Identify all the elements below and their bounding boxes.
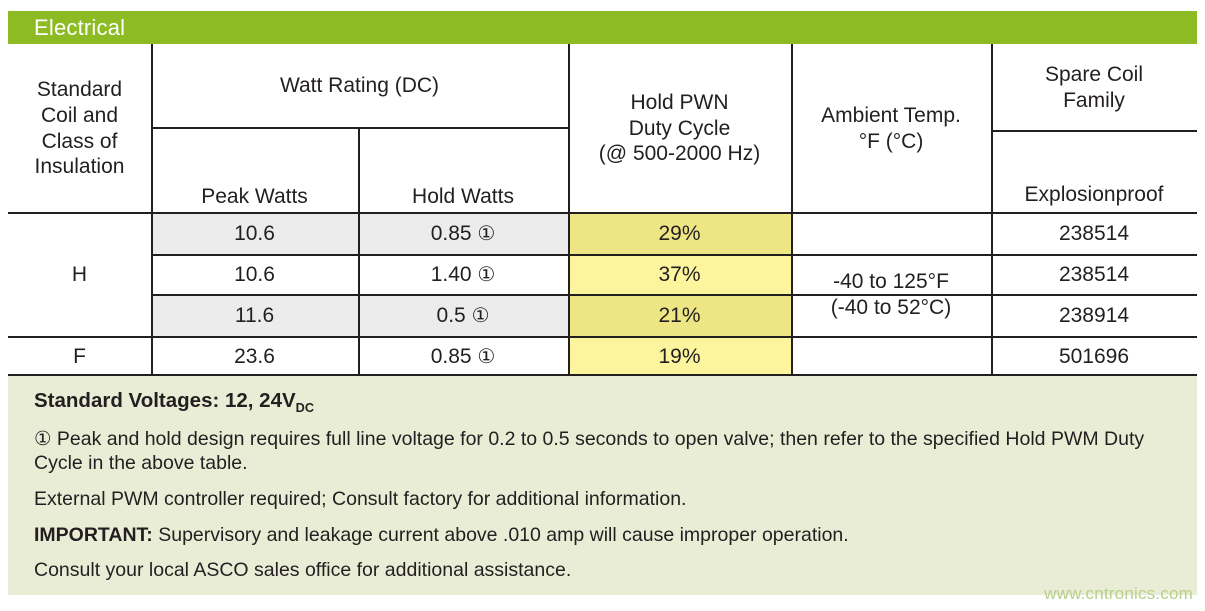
group-label-f-text: F xyxy=(8,344,151,370)
header-line: Spare Coil xyxy=(995,62,1193,88)
note-standard-voltages: Standard Voltages: 12, 24VDC xyxy=(34,388,1171,414)
header-hold-watts-label: Hold Watts xyxy=(358,184,568,210)
notes-panel: Standard Voltages: 12, 24VDC ① Peak and … xyxy=(8,376,1197,595)
header-unit-f: °F ( xyxy=(859,130,893,153)
header-line: Duty Cycle xyxy=(572,116,787,142)
table-gridline xyxy=(8,212,1197,214)
cell-hold-watts-value: 0.85 xyxy=(431,222,472,245)
note-important-text: Supervisory and leakage current above .0… xyxy=(153,524,849,546)
table-gridline xyxy=(151,44,153,376)
table-row: 10.6 xyxy=(151,213,358,255)
table-row: 23.6 xyxy=(151,337,358,376)
table-gridline xyxy=(991,44,993,376)
cell-peak-watts: 10.6 xyxy=(151,221,358,247)
header-hold-watts: Hold Watts xyxy=(358,128,568,213)
cell-hold-watts-value: 1.40 xyxy=(431,263,472,286)
cell-hold-watts: 0.85 ① xyxy=(358,221,568,247)
table-row: 1.40 ① xyxy=(358,255,568,295)
cell-hold-watts: 1.40 ① xyxy=(358,262,568,288)
note-standard-voltages-label: Standard Voltages: 12, 24V xyxy=(34,389,296,412)
footnote-marker-icon: ① xyxy=(472,305,490,327)
header-line: Coil and xyxy=(12,103,147,129)
table-gridline xyxy=(991,130,1197,132)
table-row: 10.6 xyxy=(151,255,358,295)
header-line: Standard xyxy=(12,77,147,103)
cell-duty-cycle: 37% xyxy=(568,262,791,288)
header-standard-coil-class: Standard Coil and Class of Insulation xyxy=(8,44,151,213)
table-row: 0.85 ① xyxy=(358,213,568,255)
section-title: Electrical xyxy=(34,17,125,39)
header-hold-pwm-duty-cycle: Hold PWN Duty Cycle (@ 500-2000 Hz) xyxy=(568,44,791,213)
footnote-marker-icon: ① xyxy=(477,346,495,368)
cell-hold-watts: 0.5 ① xyxy=(358,303,568,329)
cell-spare-coil-family: 238914 xyxy=(991,303,1197,329)
table-gridline xyxy=(358,127,360,376)
table-row: 37% xyxy=(568,255,791,295)
group-label-f: F xyxy=(8,337,151,376)
header-peak-watts: Peak Watts xyxy=(151,128,358,213)
header-explosionproof-label: Explosionproof xyxy=(991,182,1197,208)
header-line: Insulation xyxy=(12,154,147,180)
cell-hold-watts: 0.85 ① xyxy=(358,344,568,370)
electrical-spec-table: Standard Coil and Class of Insulation Wa… xyxy=(8,44,1197,376)
table-gridline xyxy=(151,294,1197,296)
header-spare-coil-family: Spare Coil Family xyxy=(991,44,1197,131)
table-row: 238914 xyxy=(991,295,1197,337)
table-row: 0.85 ① xyxy=(358,337,568,376)
table-gridline xyxy=(151,254,1197,256)
footnote-marker-icon: ① xyxy=(477,264,495,286)
table-row: 19% xyxy=(568,337,791,376)
section-header-bar: Electrical xyxy=(8,11,1197,44)
ambient-temp-fahrenheit: -40 to 125°F xyxy=(795,269,987,295)
cell-duty-cycle: 19% xyxy=(568,344,791,370)
note-important: IMPORTANT: Supervisory and leakage curre… xyxy=(34,523,1171,548)
header-unit-c: °C) xyxy=(893,130,924,153)
table-row: 0.5 ① xyxy=(358,295,568,337)
table-gridline xyxy=(8,336,1197,338)
cell-spare-coil-family: 238514 xyxy=(991,221,1197,247)
header-explosionproof: Explosionproof xyxy=(991,131,1197,213)
table-row: 11.6 xyxy=(151,295,358,337)
note-important-label: IMPORTANT: xyxy=(34,524,153,546)
header-line: Class of xyxy=(12,129,147,155)
table-row: 21% xyxy=(568,295,791,337)
site-watermark: www.cntronics.com xyxy=(1044,584,1193,604)
header-line: Hold PWN xyxy=(572,90,787,116)
footnote-marker-icon: ① xyxy=(477,223,495,245)
cell-hold-watts-value: 0.5 xyxy=(437,304,466,327)
header-line: Ambient Temp. xyxy=(795,103,987,129)
table-gridline xyxy=(791,44,793,376)
cell-duty-cycle: 21% xyxy=(568,303,791,329)
header-ambient-temp: Ambient Temp. °F (°C) xyxy=(791,44,991,213)
header-line: Family xyxy=(995,88,1193,114)
header-watt-rating-label: Watt Rating (DC) xyxy=(151,73,568,99)
header-watt-rating-group: Watt Rating (DC) xyxy=(151,44,568,128)
header-ambient-units: °F (°C) xyxy=(795,129,987,155)
note-external-pwm: External PWM controller required; Consul… xyxy=(34,487,1171,512)
header-line: (@ 500-2000 Hz) xyxy=(572,141,787,167)
table-row: 29% xyxy=(568,213,791,255)
group-label-h: H xyxy=(8,213,151,337)
cell-hold-watts-value: 0.85 xyxy=(431,345,472,368)
cell-spare-coil-family: 501696 xyxy=(991,344,1197,370)
header-peak-watts-label: Peak Watts xyxy=(151,184,358,210)
cell-duty-cycle: 29% xyxy=(568,221,791,247)
cell-peak-watts: 11.6 xyxy=(151,303,358,329)
table-gridline xyxy=(568,44,570,376)
cell-peak-watts: 23.6 xyxy=(151,344,358,370)
table-row: 501696 xyxy=(991,337,1197,376)
cell-spare-coil-family: 238514 xyxy=(991,262,1197,288)
ambient-temp-celsius: (-40 to 52°C) xyxy=(795,295,987,321)
table-row: 238514 xyxy=(991,213,1197,255)
cell-peak-watts: 10.6 xyxy=(151,262,358,288)
note-voltage-subscript: DC xyxy=(296,400,314,415)
note-footnote-1: ① Peak and hold design requires full lin… xyxy=(34,427,1171,476)
table-row: 238514 xyxy=(991,255,1197,295)
group-label-h-text: H xyxy=(8,262,151,288)
note-consult-asco: Consult your local ASCO sales office for… xyxy=(34,558,1171,583)
